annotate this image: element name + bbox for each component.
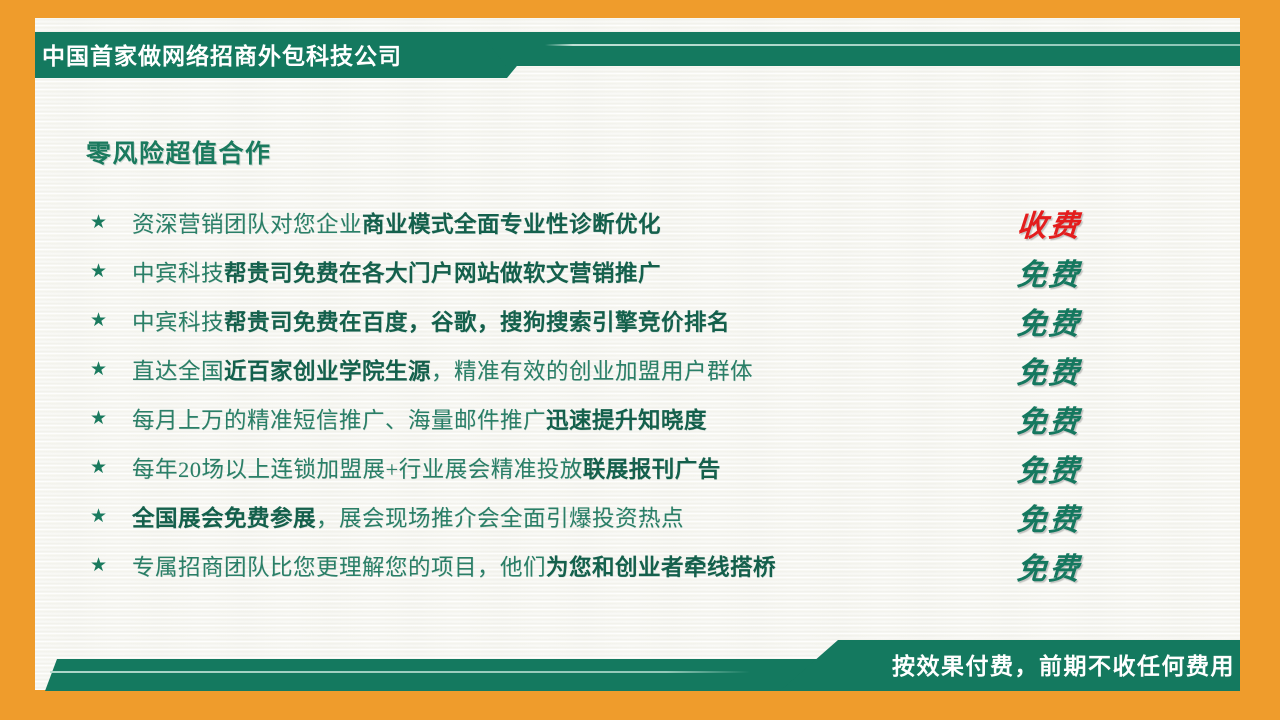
list-item: ★全国展会免费参展，展会现场推介会全面引爆投资热点免费 [86, 492, 1096, 541]
star-icon: ★ [86, 409, 132, 428]
star-icon: ★ [86, 360, 132, 379]
list-item-label: 专属招商团队比您更理解您的项目，他们为您和创业者牵线搭桥 [132, 550, 1096, 582]
list-item: ★中宾科技帮贵司免费在各大门户网站做软文营销推广免费 [86, 247, 1096, 296]
list-item-label: 中宾科技帮贵司免费在各大门户网站做软文营销推广 [132, 256, 1096, 288]
list-item-label: 直达全国近百家创业学院生源，精准有效的创业加盟用户群体 [132, 354, 1096, 386]
header-title: 中国首家做网络招商外包科技公司 [42, 36, 512, 76]
list-item-text-emphasis: 全国展会免费参展 [132, 506, 316, 531]
star-icon: ★ [86, 507, 132, 526]
status-badge: 免费 [992, 544, 1105, 588]
list-item: ★资深营销团队对您企业商业模式全面专业性诊断优化收费 [86, 198, 1096, 247]
list-item: ★直达全国近百家创业学院生源，精准有效的创业加盟用户群体免费 [86, 345, 1096, 394]
page-title: 零风险超值合作 [86, 134, 272, 170]
list-item-text-plain: 中宾科技 [132, 261, 224, 286]
status-badge: 免费 [992, 495, 1105, 539]
list-item-text-emphasis: 商业模式全面专业性诊断优化 [362, 212, 661, 237]
list-item-text-emphasis: 迅速提升知晓度 [546, 408, 707, 433]
list-item-text-plain: 直达全国 [132, 359, 224, 384]
list-item-text-plain-tail: ，展会现场推介会全面引爆投资热点 [316, 506, 684, 531]
list-item: ★中宾科技帮贵司免费在百度，谷歌，搜狗搜索引擎竞价排名免费 [86, 296, 1096, 345]
status-badge: 免费 [992, 348, 1105, 392]
status-badge: 收费 [992, 201, 1105, 245]
list-item-text-plain: 资深营销团队对您企业 [132, 212, 362, 237]
list-item-label: 中宾科技帮贵司免费在百度，谷歌，搜狗搜索引擎竞价排名 [132, 305, 1096, 337]
status-badge: 免费 [992, 446, 1105, 490]
list-item-text-plain: 中宾科技 [132, 310, 224, 335]
slide-canvas: 中国首家做网络招商外包科技公司 零风险超值合作 ★资深营销团队对您企业商业模式全… [0, 0, 1280, 720]
list-item-text-emphasis: 为您和创业者牵线搭桥 [546, 555, 776, 580]
star-icon: ★ [86, 458, 132, 477]
list-item-text-emphasis: 联展报刊广告 [583, 457, 721, 482]
footer-banner-left-shape [45, 659, 855, 691]
header-banner-right-shape [480, 32, 1240, 66]
star-icon: ★ [86, 213, 132, 232]
list-item-label: 每月上万的精准短信推广、海量邮件推广迅速提升知晓度 [132, 403, 1096, 435]
benefit-list: ★资深营销团队对您企业商业模式全面专业性诊断优化收费★中宾科技帮贵司免费在各大门… [86, 198, 1096, 590]
star-icon: ★ [86, 311, 132, 330]
list-item-label: 资深营销团队对您企业商业模式全面专业性诊断优化 [132, 207, 1096, 239]
list-item-text-emphasis: 近百家创业学院生源 [224, 359, 431, 384]
list-item-text-plain: 每月上万的精准短信推广、海量邮件推广 [132, 408, 546, 433]
status-badge: 免费 [992, 250, 1105, 294]
list-item-text-plain-tail: ，精准有效的创业加盟用户群体 [431, 359, 753, 384]
status-badge: 免费 [992, 397, 1105, 441]
footer-accent-line [50, 671, 750, 673]
list-item-text-plain: 专属招商团队比您更理解您的项目，他们 [132, 555, 546, 580]
list-item: ★专属招商团队比您更理解您的项目，他们为您和创业者牵线搭桥免费 [86, 541, 1096, 590]
header-accent-line [545, 44, 1240, 46]
list-item-text-plain: 每年20场以上连锁加盟展+行业展会精准投放 [132, 457, 583, 482]
list-item: ★每年20场以上连锁加盟展+行业展会精准投放联展报刊广告免费 [86, 443, 1096, 492]
star-icon: ★ [86, 262, 132, 281]
star-icon: ★ [86, 556, 132, 575]
list-item: ★每月上万的精准短信推广、海量邮件推广迅速提升知晓度免费 [86, 394, 1096, 443]
list-item-text-emphasis: 帮贵司免费在百度，谷歌，搜狗搜索引擎竞价排名 [224, 310, 730, 335]
list-item-label: 全国展会免费参展，展会现场推介会全面引爆投资热点 [132, 501, 1096, 533]
status-badge: 免费 [992, 299, 1105, 343]
list-item-text-emphasis: 帮贵司免费在各大门户网站做软文营销推广 [224, 261, 661, 286]
list-item-label: 每年20场以上连锁加盟展+行业展会精准投放联展报刊广告 [132, 452, 1096, 484]
footer-tagline: 按效果付费，前期不收任何费用 [892, 647, 1235, 685]
